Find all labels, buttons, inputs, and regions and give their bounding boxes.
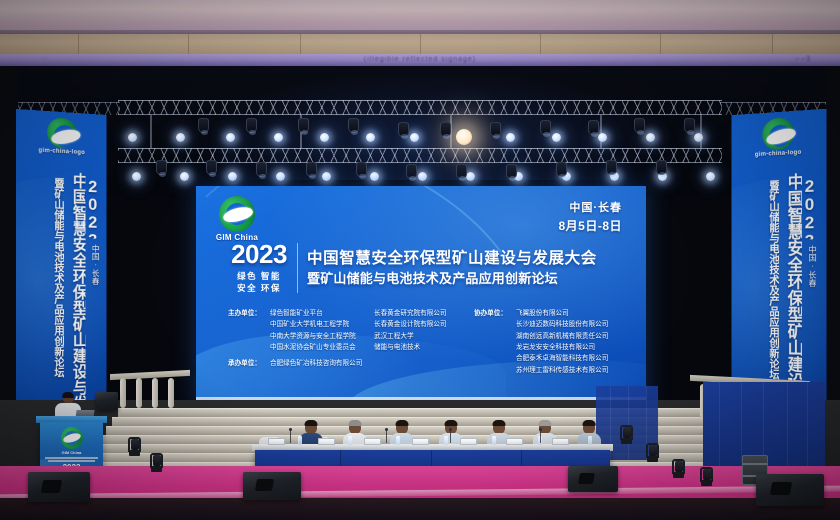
- led-strip-ghost-right: ⌐ ⌐∃: [795, 55, 810, 63]
- coorg-item: 飞翼股份有限公司: [516, 308, 626, 319]
- stone-seam: [188, 34, 189, 54]
- front-floor-shadow: [0, 498, 840, 520]
- host-col2-item: 储能与电池技术: [374, 342, 466, 353]
- screen-year: 2023: [228, 241, 290, 267]
- moving-head-fixture: [588, 120, 599, 135]
- stone-seam: [420, 34, 421, 54]
- moving-head-fixture: [246, 118, 257, 133]
- moving-head-fixture: [684, 118, 695, 133]
- stone-seam: [772, 34, 773, 54]
- stage-monitor-speaker: [28, 472, 90, 502]
- gim-china-logo-icon: [61, 427, 83, 449]
- water-bottle: [444, 436, 448, 445]
- banner-left-logo-text: gim-china-logo: [38, 148, 85, 156]
- table-microphone: [386, 430, 387, 443]
- moving-head-fixture: [156, 160, 167, 175]
- led-strip-ghost-left: ·:·: [42, 56, 48, 62]
- gim-china-logo-icon: [47, 117, 77, 149]
- water-bottle: [348, 436, 352, 445]
- host-col2-item: 长春黄金设计院有限公司: [374, 319, 466, 330]
- moving-head-fixture: [406, 164, 417, 179]
- coorg-label: 协办单位：: [474, 308, 516, 319]
- stage-monitor-speaker: [568, 466, 618, 492]
- screen-year-tagline-1: 绿色 智能: [228, 270, 290, 282]
- moving-head-fixture: [540, 120, 551, 135]
- floor-moving-light: [700, 466, 713, 486]
- nameplate: [460, 438, 477, 445]
- baluster: [120, 378, 126, 408]
- table-microphone: [450, 430, 451, 443]
- banner-right-logo-text: gim-china-logo: [755, 150, 802, 158]
- moving-head-fixture: [298, 118, 309, 133]
- nameplate: [268, 438, 285, 445]
- screen-year-tagline-2: 安全 环保: [228, 282, 290, 294]
- organizer-label: 承办单位：: [228, 358, 270, 369]
- venue-ceiling: [0, 0, 840, 34]
- water-bottle: [492, 436, 496, 445]
- screen-title-sub: 暨矿山储能与电池技术及产品应用创新论坛: [307, 271, 620, 287]
- moving-head-fixture: [656, 160, 667, 175]
- banner-left-logo: gim-china-logo: [36, 116, 87, 156]
- moving-head-fixture: [198, 118, 209, 133]
- screen-city: 中国·长春: [558, 200, 622, 217]
- water-bottle: [298, 436, 302, 445]
- coorg-item: 合肥泰禾卓海智能科技有限公司: [474, 353, 626, 364]
- nameplate: [364, 438, 381, 445]
- nameplate: [318, 438, 335, 445]
- baluster: [152, 378, 158, 408]
- title-divider: [297, 243, 298, 293]
- screen-gim-logo: GIM China: [212, 196, 262, 242]
- screen-title-main: 中国智慧安全环保型矿山建设与发展大会: [307, 249, 620, 268]
- baluster: [168, 378, 174, 408]
- gim-china-logo-icon: [762, 117, 794, 151]
- organizer-value: 合肥绿色矿冶科技咨询有限公司: [270, 358, 466, 369]
- podium-logo: GIM China: [61, 427, 83, 455]
- host-label: 主办单位：: [228, 308, 270, 319]
- banner-right-city: 中国·长春: [808, 245, 816, 302]
- banner-left-city: 中国·长春: [91, 244, 99, 299]
- screen-dates: 8月5日-8日: [558, 217, 622, 235]
- host-col1-item: 绿色智能矿业平台: [270, 308, 374, 319]
- floor-moving-light: [672, 458, 685, 478]
- stage-monitor-speaker: [243, 472, 301, 500]
- nameplate: [552, 438, 569, 445]
- banner-right-logo: gim-china-logo: [753, 116, 804, 158]
- moving-head-fixture: [398, 122, 409, 137]
- stage-monitor-speaker: [756, 474, 824, 506]
- nameplate: [412, 438, 429, 445]
- host-col1-item: 中国矿业大学机电工程学院: [270, 319, 374, 330]
- sponsor-coorg-section: 协办单位： 飞翼股份有限公司 长沙迪迈数码科技股份有限公司 湖南创远高新机械有限…: [466, 308, 626, 376]
- floor-moving-light: [646, 442, 659, 462]
- ceiling-led-strip: ·:· (illegible reflected signage) ⌐ ⌐∃: [0, 54, 840, 66]
- nameplate: [506, 438, 523, 445]
- moving-head-fixture: [206, 160, 217, 175]
- coorg-item: 长沙迪迈数码科技股份有限公司: [474, 319, 626, 330]
- screen-location-block: 中国·长春 8月5日-8日: [558, 200, 622, 235]
- led-strip-ghost-text: (illegible reflected signage): [364, 56, 476, 63]
- table-microphone: [290, 430, 291, 443]
- lighting-truss-upper: [118, 100, 722, 115]
- main-led-screen: GIM China 中国·长春 8月5日-8日 2023 绿色 智能 安全 环保…: [196, 186, 646, 408]
- moving-head-fixture: [306, 162, 317, 177]
- moving-head-fixture: [606, 160, 617, 175]
- moving-head-fixture: [440, 122, 451, 137]
- screen-year-column: 2023 绿色 智能 安全 环保: [228, 241, 290, 295]
- water-bottle: [588, 436, 592, 445]
- bright-spotlight: [456, 129, 472, 145]
- moving-head-fixture: [490, 122, 501, 137]
- sponsor-host-section: 主办单位： 绿色智能矿业平台 长春黄金研究院有限公司 中国矿业大学机电工程学院 …: [228, 308, 466, 376]
- coorg-item: 湖南创远高新机械有限责任公司: [474, 331, 626, 342]
- moving-head-fixture: [506, 164, 517, 179]
- side-fill-speaker: [96, 392, 118, 410]
- right-dark-wing: [826, 66, 840, 426]
- water-bottle: [396, 436, 400, 445]
- floor-moving-light: [620, 424, 633, 444]
- table-microphone: [540, 430, 541, 443]
- host-col2-item: 武汉工程大学: [374, 331, 466, 342]
- gim-china-logo-icon: [219, 196, 255, 232]
- host-col1-item: 中南大学资源与安全工程学院: [270, 331, 374, 342]
- stone-seam: [78, 34, 79, 54]
- moving-head-fixture: [634, 118, 645, 133]
- moving-head-fixture: [348, 118, 359, 133]
- coorg-item: 苏州理工雷科传感技术有限公司: [474, 365, 626, 376]
- host-col2-item: 长春黄金研究院有限公司: [374, 308, 466, 319]
- baluster: [136, 378, 142, 408]
- screen-sponsor-block: 主办单位： 绿色智能矿业平台 长春黄金研究院有限公司 中国矿业大学机电工程学院 …: [228, 308, 626, 376]
- moving-head-fixture: [256, 162, 267, 177]
- stage-light-row-upper: [0, 133, 840, 153]
- stone-seam: [660, 34, 661, 54]
- moving-head-fixture: [456, 164, 467, 179]
- conference-stage-photo: ·:· (illegible reflected signage) ⌐ ⌐∃: [0, 0, 840, 520]
- stone-seam: [540, 34, 541, 54]
- banner-right-year: 2023: [801, 176, 819, 239]
- host-col1-item: 中国水泥协会矿山专业委员会: [270, 342, 374, 353]
- moving-head-fixture: [556, 162, 567, 177]
- floor-moving-light: [150, 452, 163, 472]
- floor-moving-light: [128, 436, 141, 456]
- banner-left-year: 2023: [84, 177, 101, 239]
- coorg-item: 龙岩龙安安全科技有限公司: [474, 342, 626, 353]
- screen-title-block: 2023 绿色 智能 安全 环保 中国智慧安全环保型矿山建设与发展大会 暨矿山储…: [228, 241, 620, 295]
- stone-seam: [300, 34, 301, 54]
- moving-head-fixture: [356, 162, 367, 177]
